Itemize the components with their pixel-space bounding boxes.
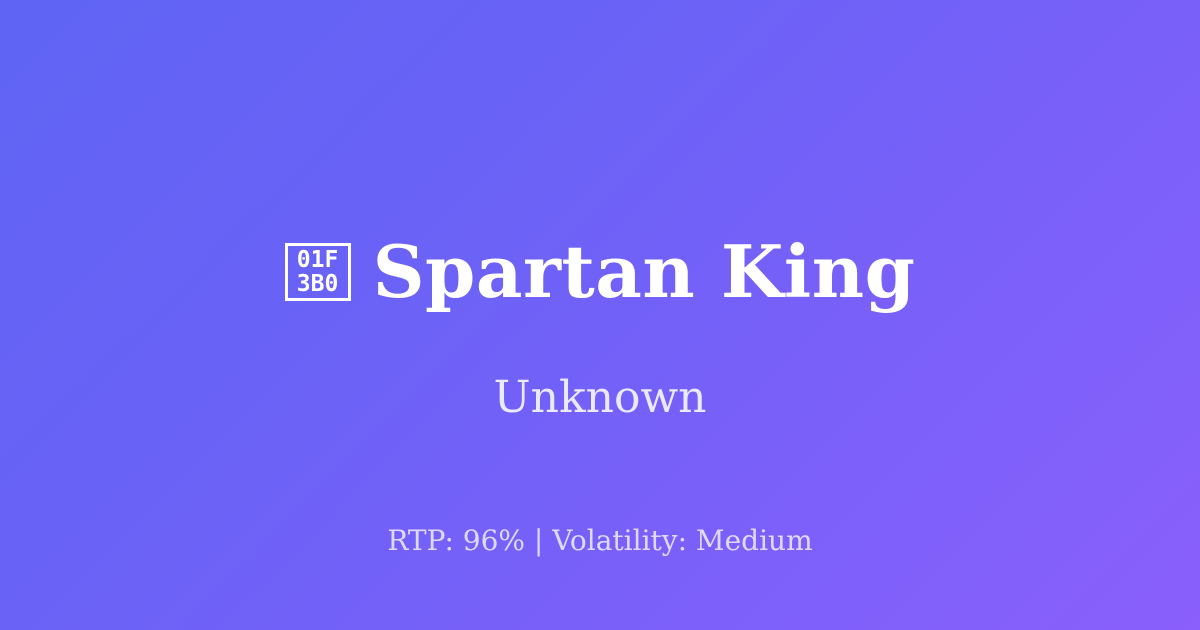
game-og-card: 01F 3B0 Spartan King Unknown RTP: 96% | … [0,0,1200,630]
game-title: Spartan King [373,236,916,308]
tofu-codepoint-low: 3B0 [297,272,339,296]
game-meta-stats: RTP: 96% | Volatility: Medium [0,527,1200,555]
game-provider-subtitle: Unknown [494,308,707,420]
slot-machine-icon: 01F 3B0 [285,243,351,301]
tofu-codepoint-high: 01F [297,248,339,272]
hero-block: 01F 3B0 Spartan King Unknown [0,236,1200,420]
title-row: 01F 3B0 Spartan King [285,236,916,308]
